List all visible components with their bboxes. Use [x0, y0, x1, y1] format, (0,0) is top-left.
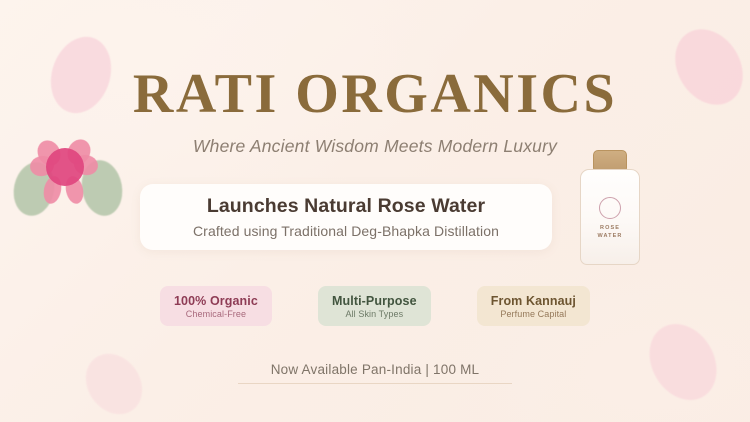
- badge-multi-purpose-subtitle: All Skin Types: [345, 309, 403, 319]
- decorative-blob-bottom-left: [74, 343, 153, 422]
- footer-divider: [238, 383, 512, 384]
- brand-title: RATI ORGANICS: [0, 66, 750, 122]
- promo-poster: RATI ORGANICS Where Ancient Wisdom Meets…: [0, 0, 750, 422]
- badge-kannauj: From Kannauj Perfume Capital: [477, 286, 590, 326]
- bottle-label-line1: ROSE: [580, 224, 640, 232]
- bottle-label: ROSE WATER: [580, 224, 640, 240]
- badge-organic: 100% Organic Chemical-Free: [160, 286, 272, 326]
- announcement-card: Launches Natural Rose Water Crafted usin…: [140, 184, 552, 250]
- badge-organic-title: 100% Organic: [174, 294, 258, 308]
- availability-footer-text: Now Available Pan-India | 100 ML: [0, 362, 750, 377]
- badge-multi-purpose: Multi-Purpose All Skin Types: [318, 286, 431, 326]
- badge-kannauj-subtitle: Perfume Capital: [500, 309, 566, 319]
- feature-badge-row: 100% Organic Chemical-Free Multi-Purpose…: [160, 286, 590, 326]
- badge-organic-subtitle: Chemical-Free: [186, 309, 246, 319]
- bottle-label-line2: WATER: [580, 232, 640, 240]
- bottle-ring-logo-icon: [599, 197, 621, 219]
- product-bottle-image: ROSE WATER: [580, 150, 640, 265]
- badge-kannauj-title: From Kannauj: [491, 294, 576, 308]
- announcement-subtitle: Crafted using Traditional Deg-Bhapka Dis…: [193, 223, 499, 239]
- badge-multi-purpose-title: Multi-Purpose: [332, 294, 417, 308]
- announcement-headline: Launches Natural Rose Water: [207, 195, 485, 218]
